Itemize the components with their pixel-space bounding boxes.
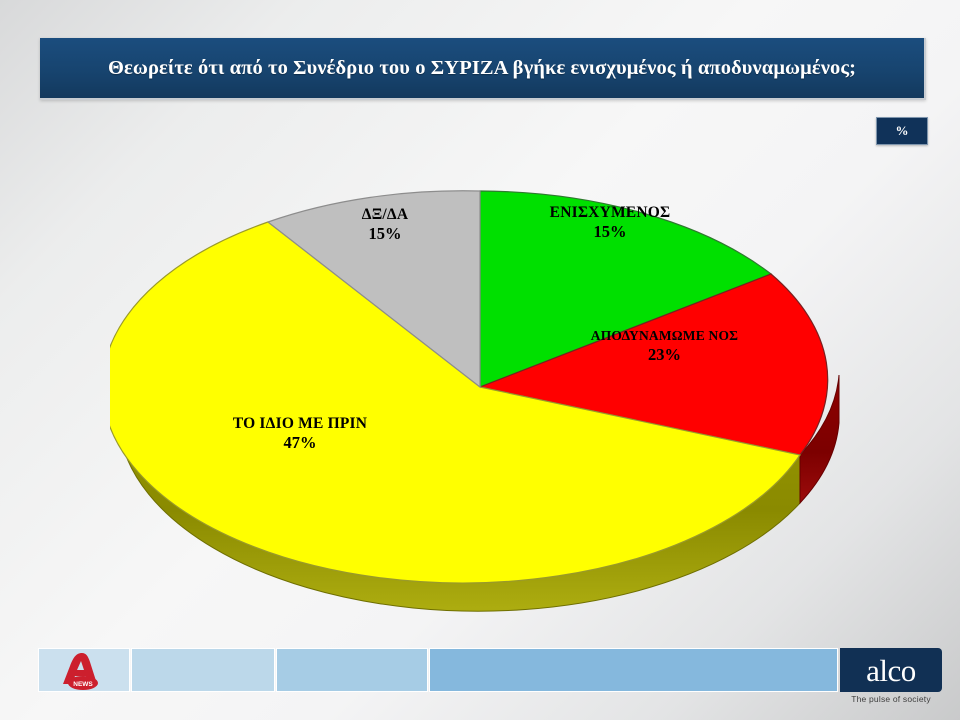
unit-badge: % [876, 117, 928, 145]
alco-logo: alco [840, 648, 942, 692]
footer-block-3 [276, 648, 428, 692]
footer-block-2 [131, 648, 275, 692]
alco-brand-name: alco [866, 655, 916, 686]
pie-chart: ΕΝΙΣΧΥΜΕΝΟΣ 15% ΑΠΟΔΥΝΑΜΩΜΕ ΝΟΣ 23% ΤΟ Ι… [110, 160, 850, 620]
footer-bar: NEWS alco The pulse of society [0, 648, 960, 696]
news-logo-word: NEWS [73, 681, 93, 688]
alco-tagline: The pulse of society [840, 694, 942, 704]
page-title: Θεωρείτε ότι από το Συνέδριο του ο ΣΥΡΙΖ… [102, 57, 862, 80]
pie-chart-svg [110, 160, 850, 620]
slide-root: Θεωρείτε ότι από το Συνέδριο του ο ΣΥΡΙΖ… [0, 0, 960, 720]
pie-top-faces [110, 191, 828, 583]
title-bar: Θεωρείτε ότι από το Συνέδριο του ο ΣΥΡΙΖ… [40, 38, 926, 100]
footer-block-4 [429, 648, 838, 692]
alpha-news-logo: NEWS [52, 650, 114, 692]
unit-badge-label: % [896, 123, 909, 139]
